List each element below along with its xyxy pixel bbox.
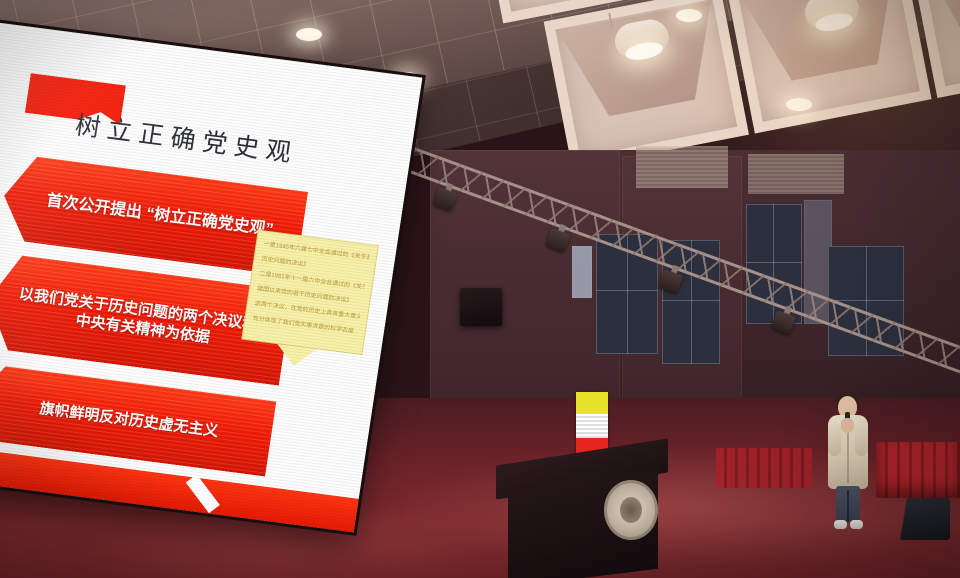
institutional-seal-emblem-icon (604, 480, 658, 540)
recessed-downlight-icon (676, 9, 702, 22)
poster-yellow-band (576, 392, 608, 414)
lectern[interactable] (496, 452, 676, 578)
auditorium-seats-back (716, 448, 812, 488)
wall-poster (576, 392, 608, 454)
presenter-hands (841, 418, 854, 433)
window-blinds (748, 154, 844, 194)
recessed-downlight-icon (296, 28, 322, 41)
presenter-arm-left (828, 422, 841, 456)
slide-title: 树立正确党史观 (73, 106, 301, 170)
white-diamond-accent-icon (186, 474, 220, 513)
presenter-shoe (850, 520, 863, 529)
presenter-legs (836, 486, 860, 522)
window-blinds (636, 146, 728, 188)
presenter-shoe (834, 520, 847, 529)
led-presentation-screen[interactable]: 树立正确党史观 首次公开提出 “树立正确党史观” 以我们党关于历史问题的两个决议… (0, 22, 422, 532)
slide-callout-box: 一是1945年六届七中全会通过的《关于若干 历史问题的决议》 二是1981年十一… (241, 230, 379, 355)
auditorium-seats (876, 442, 960, 498)
presentation-hall-photo: 树立正确党史观 首次公开提出 “树立正确党史观” 以我们党关于历史问题的两个决议… (0, 0, 960, 578)
window-pane-lit (572, 246, 592, 298)
poster-text-band (576, 414, 608, 438)
recessed-downlight-icon (786, 98, 812, 111)
presenter (824, 396, 872, 536)
presenter-arm-right (855, 422, 868, 456)
slide-surface: 树立正确党史观 首次公开提出 “树立正确党史观” 以我们党关于历史问题的两个决议… (0, 22, 422, 532)
wall-mounted-speaker (460, 288, 502, 326)
stage-monitor-speaker (900, 498, 950, 540)
